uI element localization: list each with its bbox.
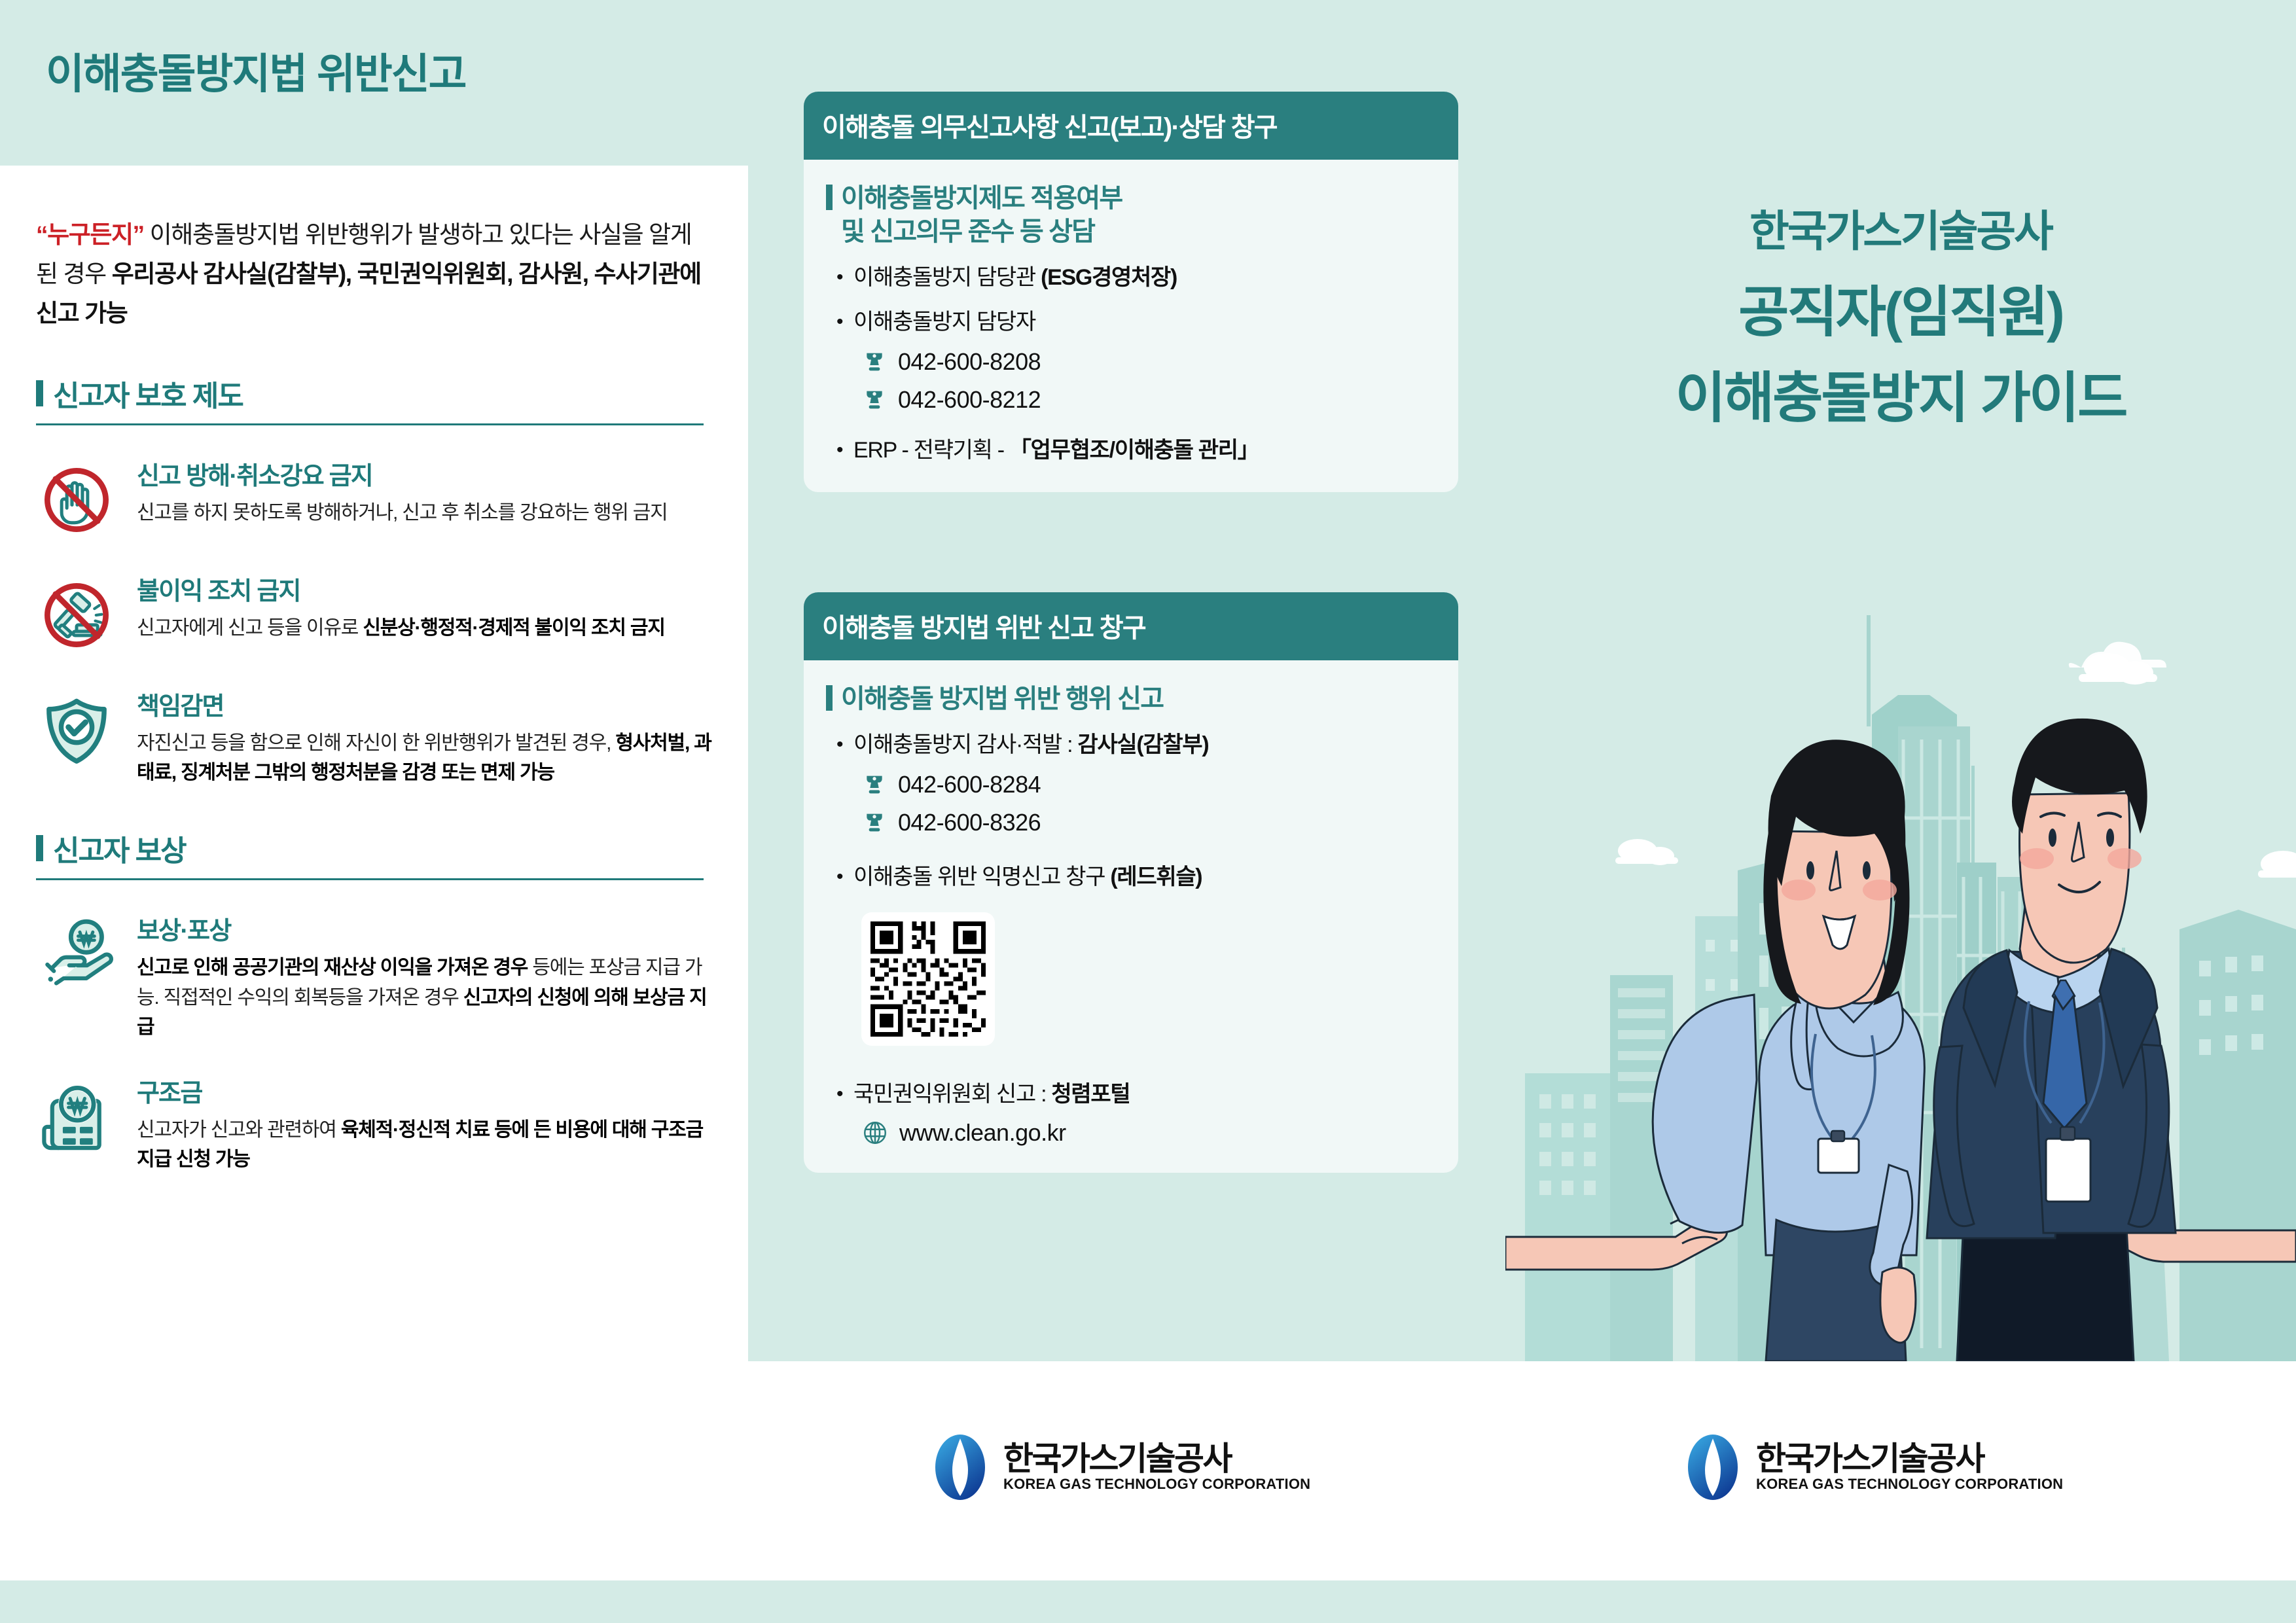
item-title: 보상·포상 (137, 910, 717, 946)
phone-number: 042-600-8208 (898, 348, 1041, 376)
erp-text-bold: 「업무협조/이해충돌 관리」 (1009, 438, 1259, 463)
bullet-text: 이해충돌방지 담당자 (853, 310, 1035, 334)
qr-code-red-whistle[interactable] (861, 912, 995, 1046)
section-heading-reward: 신고자 보상 (36, 827, 717, 869)
list-item: 책임감면 자진신고 등을 함으로 인해 자신이 한 위반행위가 발견된 경우, … (36, 686, 717, 788)
subheading-text: 이해충돌방지제도 적용여부 및 신고의무 준수 등 상담 (841, 182, 1122, 249)
item-title: 책임감면 (137, 686, 717, 722)
intro-quoted-text: “누구든지” (36, 221, 144, 248)
list-item: 신고 방해·취소강요 금지 신고를 하지 못하도록 방해하거나, 신고 후 취소… (36, 455, 717, 541)
item-description: 신고자가 신고와 관련하여 육체적·정신적 치료 등에 든 비용에 대해 구조금… (137, 1115, 717, 1175)
logo-block: 한국가스기술공사 KOREA GAS TECHNOLOGY CORPORATIO… (931, 1433, 1310, 1501)
bullet-dot: • (836, 308, 853, 338)
card-subheading: 이해충돌방지제도 적용여부 및 신고의무 준수 등 상담 (826, 182, 1436, 249)
phone-number: 042-600-8212 (898, 386, 1041, 414)
bullet-text-bold: 감사실(감찰부) (1077, 732, 1208, 757)
phone-line[interactable]: 042-600-8208 (861, 348, 1436, 376)
logo-english-name: KOREA GAS TECHNOLOGY CORPORATION (1756, 1476, 2063, 1492)
desc-pre: 신고자가 신고와 관련하여 (137, 1119, 341, 1141)
subheading-line-2: 및 신고의무 준수 등 상담 (841, 217, 1094, 246)
card-violation-report-contact: 이해충돌 방지법 위반 신고 창구 이해충돌 방지법 위반 행위 신고 • 이해… (804, 592, 1458, 1173)
item-title: 신고 방해·취소강요 금지 (137, 455, 717, 491)
phone-line[interactable]: 042-600-8326 (861, 809, 1436, 836)
subheading-line-1: 이해충돌방지제도 적용여부 (841, 184, 1122, 213)
title-line-1: 한국가스기술공사 (1505, 196, 2296, 259)
bullet-dot: • (836, 863, 853, 893)
section-accent-bar (36, 835, 43, 861)
title-line-2: 공직자(임직원) (1505, 268, 2296, 348)
card-header-title: 이해충돌 의무신고사항 신고(보고)·상담 창구 (804, 92, 1458, 160)
logo-english-name: KOREA GAS TECHNOLOGY CORPORATION (1003, 1476, 1310, 1492)
bullet-item: • 이해충돌방지 담당관 (ESG경영처장) (836, 263, 1436, 293)
item-description: 신고를 하지 못하도록 방해하거나, 신고 후 취소를 강요하는 행위 금지 (137, 498, 717, 528)
footer-white-band: 한국가스기술공사 KOREA GAS TECHNOLOGY CORPORATIO… (748, 1361, 2296, 1580)
intro-bold-1: 우리공사 감사실(감찰부), (112, 260, 351, 287)
logo-block: 한국가스기술공사 KOREA GAS TECHNOLOGY CORPORATIO… (1684, 1433, 2063, 1501)
middle-column: 이해충돌 의무신고사항 신고(보고)·상담 창구 이해충돌방지제도 적용여부 및… (748, 0, 1505, 1580)
intro-paragraph: “누구든지” 이해충돌방지법 위반행위가 발생하고 있다는 사실을 알게 된 경… (36, 215, 717, 333)
no-gavel-icon (36, 571, 128, 656)
receipt-won-icon (36, 1073, 128, 1175)
desc-pre: 자진신고 등을 함으로 인해 자신이 한 위반행위가 발견된 경우, (137, 732, 615, 754)
website-line[interactable]: www.clean.go.kr (861, 1119, 1436, 1147)
logo-text: 한국가스기술공사 KOREA GAS TECHNOLOGY CORPORATIO… (1756, 1442, 2063, 1493)
bullet-dot: • (836, 436, 853, 466)
section-heading-protection: 신고자 보호 제도 (36, 372, 717, 414)
brochure-title-block: 한국가스기술공사 공직자(임직원) 이해충돌방지 가이드 (1505, 196, 2296, 433)
hand-coin-won-icon (36, 910, 128, 1043)
kgtc-logo-mark (1684, 1433, 1742, 1501)
bullet-text: 이해충돌방지 담당관 (853, 265, 1041, 290)
subheading-accent-bar (826, 185, 833, 210)
brochure-page: 이해충돌방지법 위반신고 “누구든지” 이해충돌방지법 위반행위가 발생하고 있… (0, 0, 2296, 1623)
telephone-icon (861, 387, 888, 413)
bullet-text-bold: 청렴포털 (1051, 1082, 1130, 1107)
subheading-text: 이해충돌 방지법 위반 행위 신고 (841, 683, 1163, 716)
desc-bold: 신분상·행정적·경제적 불이익 조치 금지 (363, 617, 664, 639)
bottom-mint-strip (0, 1580, 2296, 1623)
bullet-text-bold: (ESG경영처장) (1041, 265, 1177, 290)
shield-check-icon (36, 686, 128, 788)
logo-korean-name: 한국가스기술공사 (1756, 1440, 1984, 1477)
intro-rest-2 (351, 260, 357, 287)
bullet-dot: • (836, 1080, 853, 1110)
bullet-item: • 국민권익위원회 신고 : 청렴포털 (836, 1080, 1436, 1110)
item-title: 구조금 (137, 1073, 717, 1109)
website-url: www.clean.go.kr (899, 1119, 1066, 1147)
bullet-text: 이해충돌 위반 익명신고 창구 (853, 865, 1110, 889)
item-description: 신고자에게 신고 등을 이유로 신분상·행정적·경제적 불이익 조치 금지 (137, 613, 717, 643)
card-subheading: 이해충돌 방지법 위반 행위 신고 (826, 683, 1436, 716)
bullet-dot: • (836, 730, 853, 760)
phone-line[interactable]: 042-600-8284 (861, 771, 1436, 798)
bullet-item: • 이해충돌방지 감사·적발 : 감사실(감찰부) (836, 730, 1436, 760)
section-divider (36, 423, 704, 425)
card-header-title: 이해충돌 방지법 위반 신고 창구 (804, 592, 1458, 660)
right-column: 한국가스기술공사 공직자(임직원) 이해충돌방지 가이드 (1505, 0, 2296, 1361)
no-hand-stop-icon (36, 455, 128, 541)
bullet-text-bold: (레드휘슬) (1110, 865, 1202, 889)
phone-line[interactable]: 042-600-8212 (861, 386, 1436, 414)
bullet-item: • 이해충돌 위반 익명신고 창구 (레드휘슬) (836, 863, 1436, 893)
erp-text: ERP - 전략기획 - (853, 438, 1009, 463)
list-item: 구조금 신고자가 신고와 관련하여 육체적·정신적 치료 등에 든 비용에 대해… (36, 1073, 717, 1175)
bullet-item-erp: • ERP - 전략기획 - 「업무협조/이해충돌 관리」 (836, 436, 1436, 466)
bullet-dot: • (836, 263, 853, 293)
bullet-text: 국민권익위원회 신고 : (853, 1082, 1051, 1107)
bullet-item: • 이해충돌방지 담당자 (836, 308, 1436, 338)
item-description: 자진신고 등을 함으로 인해 자신이 한 위반행위가 발견된 경우, 형사처벌,… (137, 728, 717, 788)
telephone-icon (861, 349, 888, 375)
section-title: 신고자 보호 제도 (53, 372, 243, 414)
phone-number: 042-600-8326 (898, 809, 1041, 836)
list-item: 불이익 조치 금지 신고자에게 신고 등을 이유로 신분상·행정적·경제적 불이… (36, 571, 717, 656)
kgtc-logo-mark (931, 1433, 989, 1501)
phone-number: 042-600-8284 (898, 771, 1041, 798)
item-description: 신고로 인해 공공기관의 재산상 이익을 가져온 경우 등에는 포상금 지급 가… (137, 953, 717, 1043)
left-column-title: 이해충돌방지법 위반신고 (46, 41, 465, 101)
globe-icon (861, 1119, 889, 1147)
logo-text: 한국가스기술공사 KOREA GAS TECHNOLOGY CORPORATIO… (1003, 1442, 1310, 1493)
telephone-icon (861, 772, 888, 798)
telephone-icon (861, 810, 888, 836)
section-accent-bar (36, 380, 43, 406)
subheading-accent-bar (826, 685, 833, 711)
card-duty-report-contact: 이해충돌 의무신고사항 신고(보고)·상담 창구 이해충돌방지제도 적용여부 및… (804, 92, 1458, 492)
item-title: 불이익 조치 금지 (137, 571, 717, 607)
desc-bold: 신고로 인해 공공기관의 재산상 이익을 가져온 경우 (137, 957, 528, 978)
section-divider (36, 878, 704, 880)
bullet-text: 이해충돌방지 감사·적발 : (853, 732, 1077, 757)
desc-pre: 신고자에게 신고 등을 이유로 (137, 617, 363, 639)
list-item: 보상·포상 신고로 인해 공공기관의 재산상 이익을 가져온 경우 등에는 포상… (36, 910, 717, 1043)
section-title: 신고자 보상 (53, 827, 186, 869)
logo-korean-name: 한국가스기술공사 (1003, 1440, 1231, 1477)
title-line-3: 이해충돌방지 가이드 (1505, 354, 2296, 433)
left-white-panel: “누구든지” 이해충돌방지법 위반행위가 발생하고 있다는 사실을 알게 된 경… (0, 166, 748, 1580)
